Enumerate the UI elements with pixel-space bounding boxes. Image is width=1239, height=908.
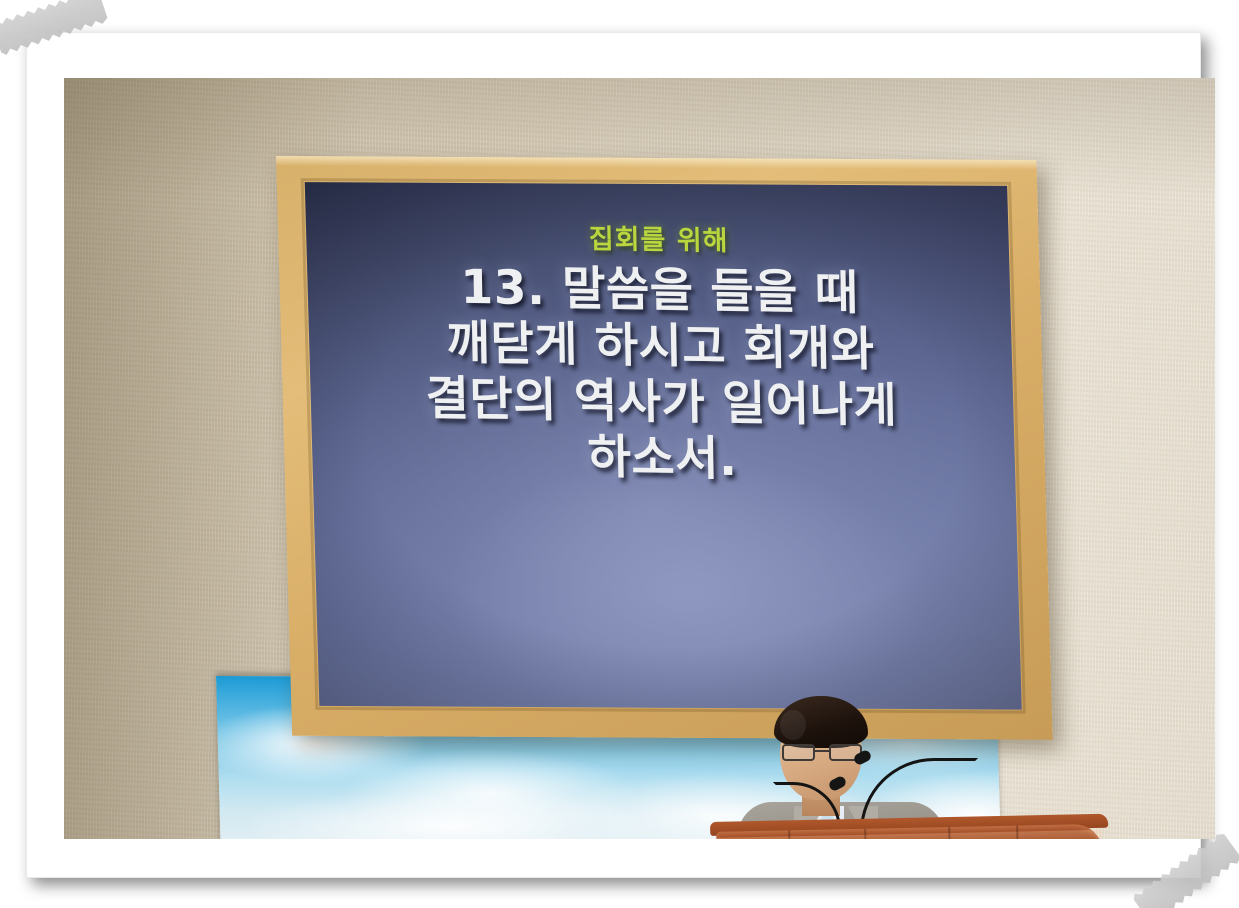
photo-mat: 집회를 위해 13. 말씀을 들을 때 깨닫게 하시고 회개와 결단의 역사가 … [26, 32, 1201, 878]
screen-frame: 집회를 위해 13. 말씀을 들을 때 깨닫게 하시고 회개와 결단의 역사가 … [276, 156, 1053, 740]
lens-left [782, 744, 815, 761]
projection-screen: 집회를 위해 13. 말씀을 들을 때 깨닫게 하시고 회개와 결단의 역사가 … [276, 156, 1053, 740]
podium-sheen [716, 830, 1102, 839]
photograph: 집회를 위해 13. 말씀을 들을 때 깨닫게 하시고 회개와 결단의 역사가 … [64, 78, 1215, 839]
mic-capsule [827, 775, 847, 793]
slide-body-line-3: 결단의 역사가 일어나게 [328, 370, 995, 436]
hair [774, 696, 868, 748]
projector-hotspot [439, 455, 938, 709]
slide-body-line-2: 깨닫게 하시고 회개와 [327, 314, 994, 380]
slide-body-line-4: 하소서. [329, 425, 996, 491]
eyeglasses-icon [782, 744, 862, 761]
slide-surface: 집회를 위해 13. 말씀을 들을 때 깨닫게 하시고 회개와 결단의 역사가 … [305, 182, 1022, 709]
mic-capsule [852, 749, 872, 767]
screenshot-stage: 집회를 위해 13. 말씀을 들을 때 깨닫게 하시고 회개와 결단의 역사가 … [0, 0, 1239, 908]
glasses-bridge [815, 750, 829, 752]
slide-body: 13. 말씀을 들을 때 깨닫게 하시고 회개와 결단의 역사가 일어나게 하소… [326, 258, 996, 492]
slide-body-line-1: 13. 말씀을 들을 때 [326, 258, 993, 324]
slide-text-block: 집회를 위해 13. 말씀을 들을 때 깨닫게 하시고 회개와 결단의 역사가 … [307, 212, 1014, 492]
slide-title: 집회를 위해 [325, 213, 992, 262]
